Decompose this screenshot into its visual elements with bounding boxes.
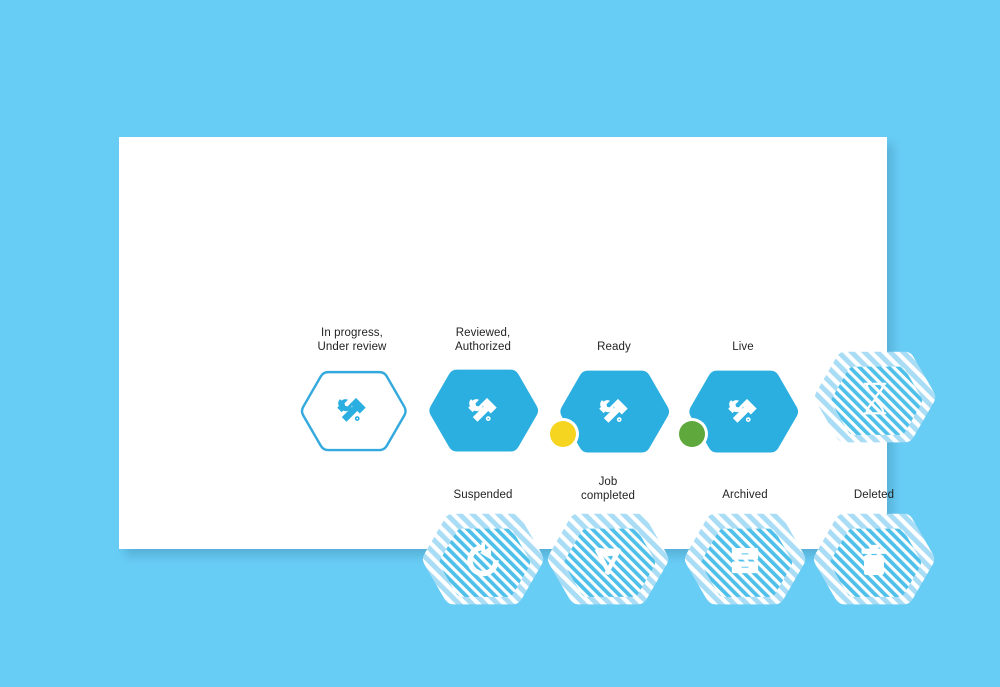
status-item-ready[interactable]: Ready	[544, 341, 684, 467]
hexagon-shape-suspended	[413, 507, 553, 615]
status-item-suspended[interactable]: Suspended	[413, 489, 553, 615]
status-hexagon-job-completed[interactable]	[538, 507, 678, 615]
status-item-live[interactable]: Live	[673, 341, 813, 467]
status-hexagon-reviewed-authorized[interactable]	[413, 358, 553, 466]
hexagon-shape-job-completed	[538, 507, 678, 615]
content-card: In progress, Under reviewReviewed, Autho…	[119, 137, 887, 549]
status-item-in-progress-under-review[interactable]: In progress, Under review	[282, 327, 422, 466]
status-hexagon-suspended[interactable]	[413, 507, 553, 615]
status-item-job-completed[interactable]: Job completed	[538, 476, 678, 615]
status-label-in-progress-under-review: In progress, Under review	[282, 327, 422, 354]
status-hexagon-archived[interactable]	[675, 507, 815, 615]
status-label-deleted: Deleted	[804, 489, 944, 503]
status-dot-yellow	[550, 421, 576, 447]
hexagon-shape-deleted	[804, 507, 944, 615]
status-hexagon-deleted[interactable]	[804, 507, 944, 615]
status-label-live: Live	[673, 341, 813, 355]
status-label-suspended: Suspended	[413, 489, 553, 503]
trash-can-icon	[862, 545, 886, 575]
hexagon-shape-in-progress-under-review	[282, 358, 422, 466]
hexagon-shape-live	[673, 359, 813, 467]
status-label-ready: Ready	[544, 341, 684, 355]
status-label-job-completed: Job completed	[538, 476, 678, 503]
status-item-waiting[interactable]	[805, 341, 945, 453]
status-label-archived: Archived	[675, 489, 815, 503]
hexagon-shape-archived	[675, 507, 815, 615]
status-item-deleted[interactable]: Deleted	[804, 489, 944, 615]
status-item-reviewed-authorized[interactable]: Reviewed, Authorized	[413, 327, 553, 466]
status-hexagon-ready[interactable]	[544, 359, 684, 467]
hexagon-shape-ready	[544, 359, 684, 467]
status-hexagon-live[interactable]	[673, 359, 813, 467]
status-dot-green	[679, 421, 705, 447]
status-item-archived[interactable]: Archived	[675, 489, 815, 615]
hexagon-shape-waiting	[805, 345, 945, 453]
status-hexagon-in-progress-under-review[interactable]	[282, 358, 422, 466]
status-label-reviewed-authorized: Reviewed, Authorized	[413, 327, 553, 354]
status-hexagon-waiting[interactable]	[805, 345, 945, 453]
hexagon-shape-reviewed-authorized	[413, 358, 553, 466]
